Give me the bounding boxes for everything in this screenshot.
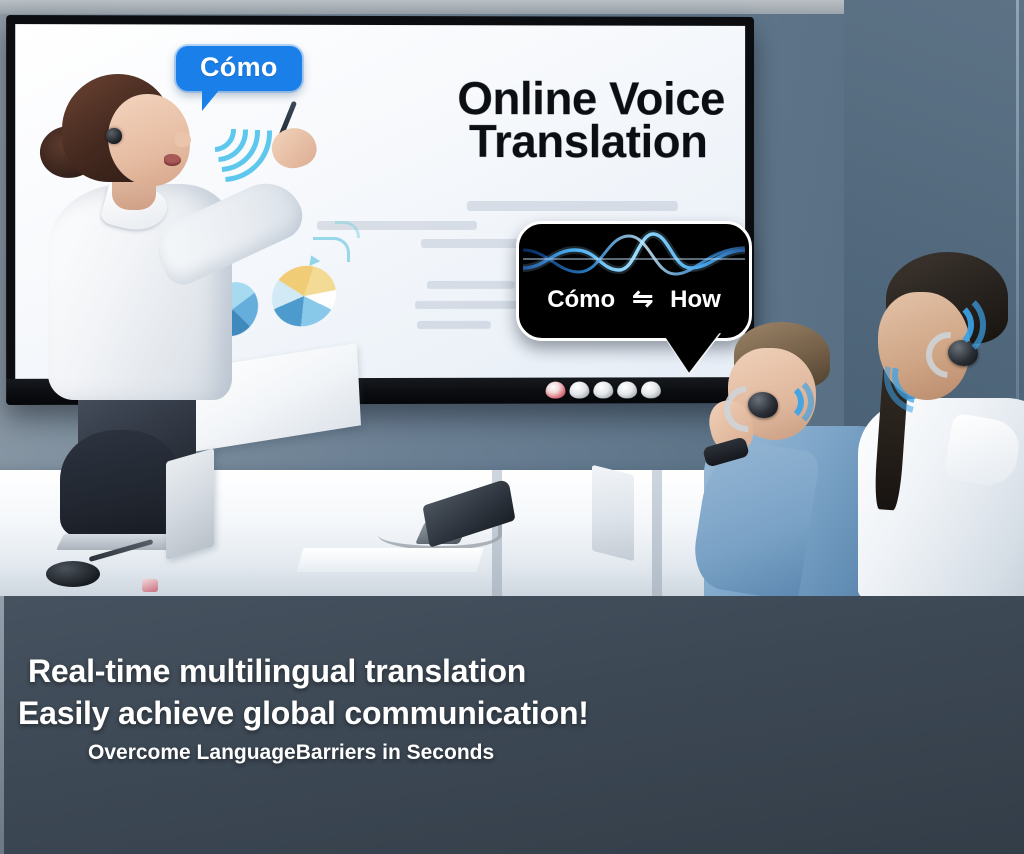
sound-wave-arc-icon xyxy=(758,374,814,430)
headline-line-1: Online Voice xyxy=(409,77,745,121)
marker-white-icon xyxy=(569,382,589,399)
audio-waveform-icon xyxy=(523,228,745,284)
translation-source-word: Cómo xyxy=(547,286,615,314)
whiteboard-ghost-line xyxy=(467,201,678,211)
poster-left-edge xyxy=(0,596,4,854)
display-headline: Online Voice Translation xyxy=(409,77,745,164)
speech-bubble-text: Cómo xyxy=(200,52,278,82)
marker-red-icon xyxy=(546,382,566,399)
translation-target-word: How xyxy=(670,286,721,314)
marker-white-icon xyxy=(641,381,661,398)
listener-woman xyxy=(852,252,1024,596)
marker-tray xyxy=(546,381,661,398)
marketing-banner: Real-time multilingual translation Easil… xyxy=(0,596,1024,854)
translation-pair: Cómo ⇋ How xyxy=(519,286,749,314)
second-laptop-screen xyxy=(592,465,634,561)
banner-headline-line-2: Easily achieve global communication! xyxy=(16,692,636,734)
laptop-screen xyxy=(166,448,214,560)
whiteboard-ghost-line xyxy=(417,321,491,329)
speech-bubble-como[interactable]: Cómo xyxy=(176,46,302,91)
whiteboard-ghost-line xyxy=(415,301,531,309)
office-chair xyxy=(60,430,182,538)
whiteboard-ghost-line xyxy=(427,281,515,289)
banner-headline-line-1: Real-time multilingual translation xyxy=(16,650,636,692)
product-poster: Online Voice Translation xyxy=(0,0,1024,854)
waveform-svg xyxy=(523,228,745,284)
banner-subheadline: Overcome LanguageBarriers in Seconds xyxy=(16,741,636,765)
desk-paper xyxy=(297,548,484,572)
marker-white-icon xyxy=(617,381,637,398)
headline-line-2: Translation xyxy=(409,120,745,163)
marker-white-icon xyxy=(593,381,613,398)
desk-eraser xyxy=(142,579,158,592)
speech-bubble-tail-icon xyxy=(202,89,220,111)
conference-room-scene: Online Voice Translation xyxy=(0,0,1024,596)
presenter-earbud xyxy=(106,128,122,144)
banner-copy: Real-time multilingual translation Easil… xyxy=(16,650,636,765)
presenter-hand xyxy=(267,122,321,174)
computer-mouse xyxy=(46,561,100,587)
table-seam xyxy=(652,470,662,596)
swap-arrows-icon: ⇋ xyxy=(632,287,653,312)
